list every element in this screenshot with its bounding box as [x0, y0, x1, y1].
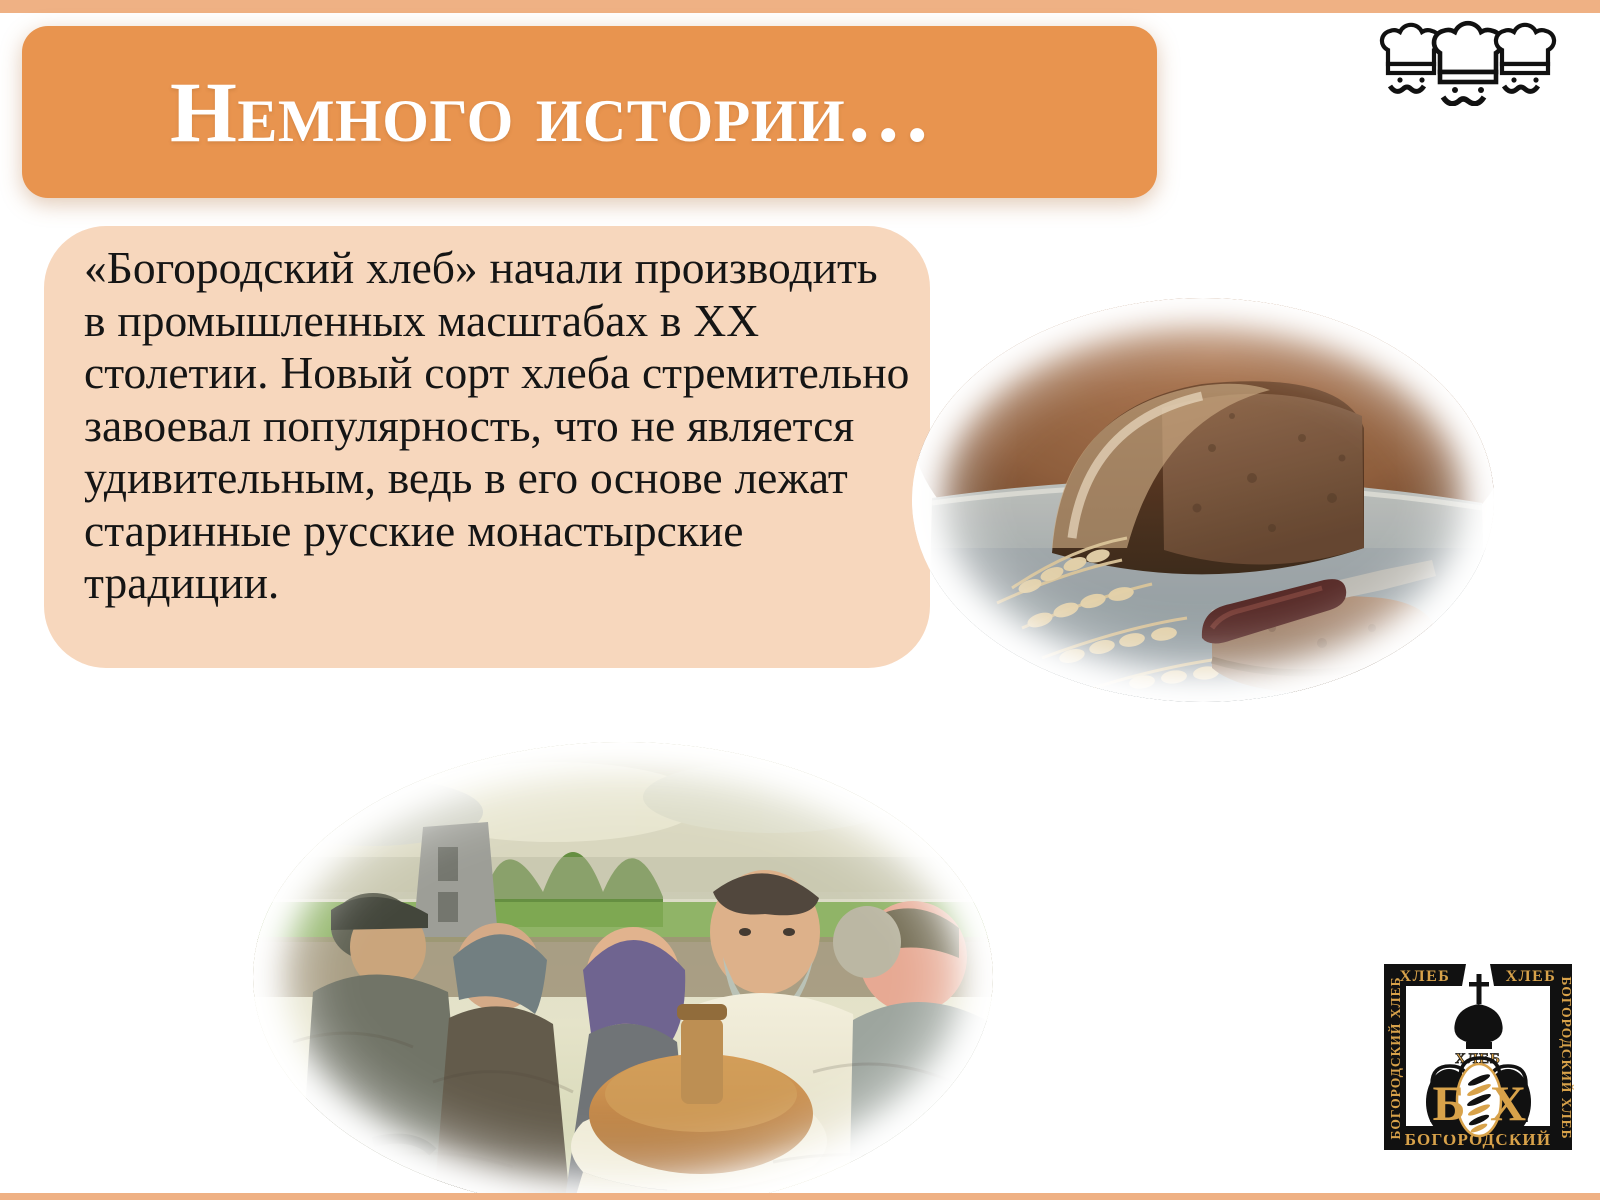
logo-left-side-text: БОГОРОДСКИЙ ХЛЕБ — [1388, 976, 1403, 1139]
bottom-accent-bar — [0, 1193, 1600, 1200]
title-banner: Немного истории… — [22, 26, 1157, 198]
body-text-card: «Богородский хлеб» начали производить в … — [44, 226, 930, 668]
bread-photo — [912, 298, 1494, 702]
chef-hats-icon — [1372, 20, 1562, 106]
page-title: Немного истории… — [22, 26, 1157, 198]
logo-monogram-left: Б — [1432, 1075, 1465, 1131]
logo-right-side-text: БОГОРОДСКИЙ ХЛЕБ — [1559, 976, 1574, 1139]
logo-top-right-text: ХЛЕБ — [1506, 968, 1557, 985]
slide: Немного истории… — [0, 0, 1600, 1200]
bogorodsky-khleb-logo: ХЛЕБ ХЛЕБ БОГОРОДСКИЙ БОГОРОДСКИЙ ХЛЕБ Б… — [1370, 950, 1586, 1162]
logo-monogram-right: Х — [1490, 1075, 1526, 1131]
painting-photo — [253, 742, 993, 1200]
top-accent-bar — [0, 0, 1600, 13]
logo-top-left-text: ХЛЕБ — [1400, 968, 1451, 985]
body-text: «Богородский хлеб» начали производить в … — [64, 242, 910, 610]
